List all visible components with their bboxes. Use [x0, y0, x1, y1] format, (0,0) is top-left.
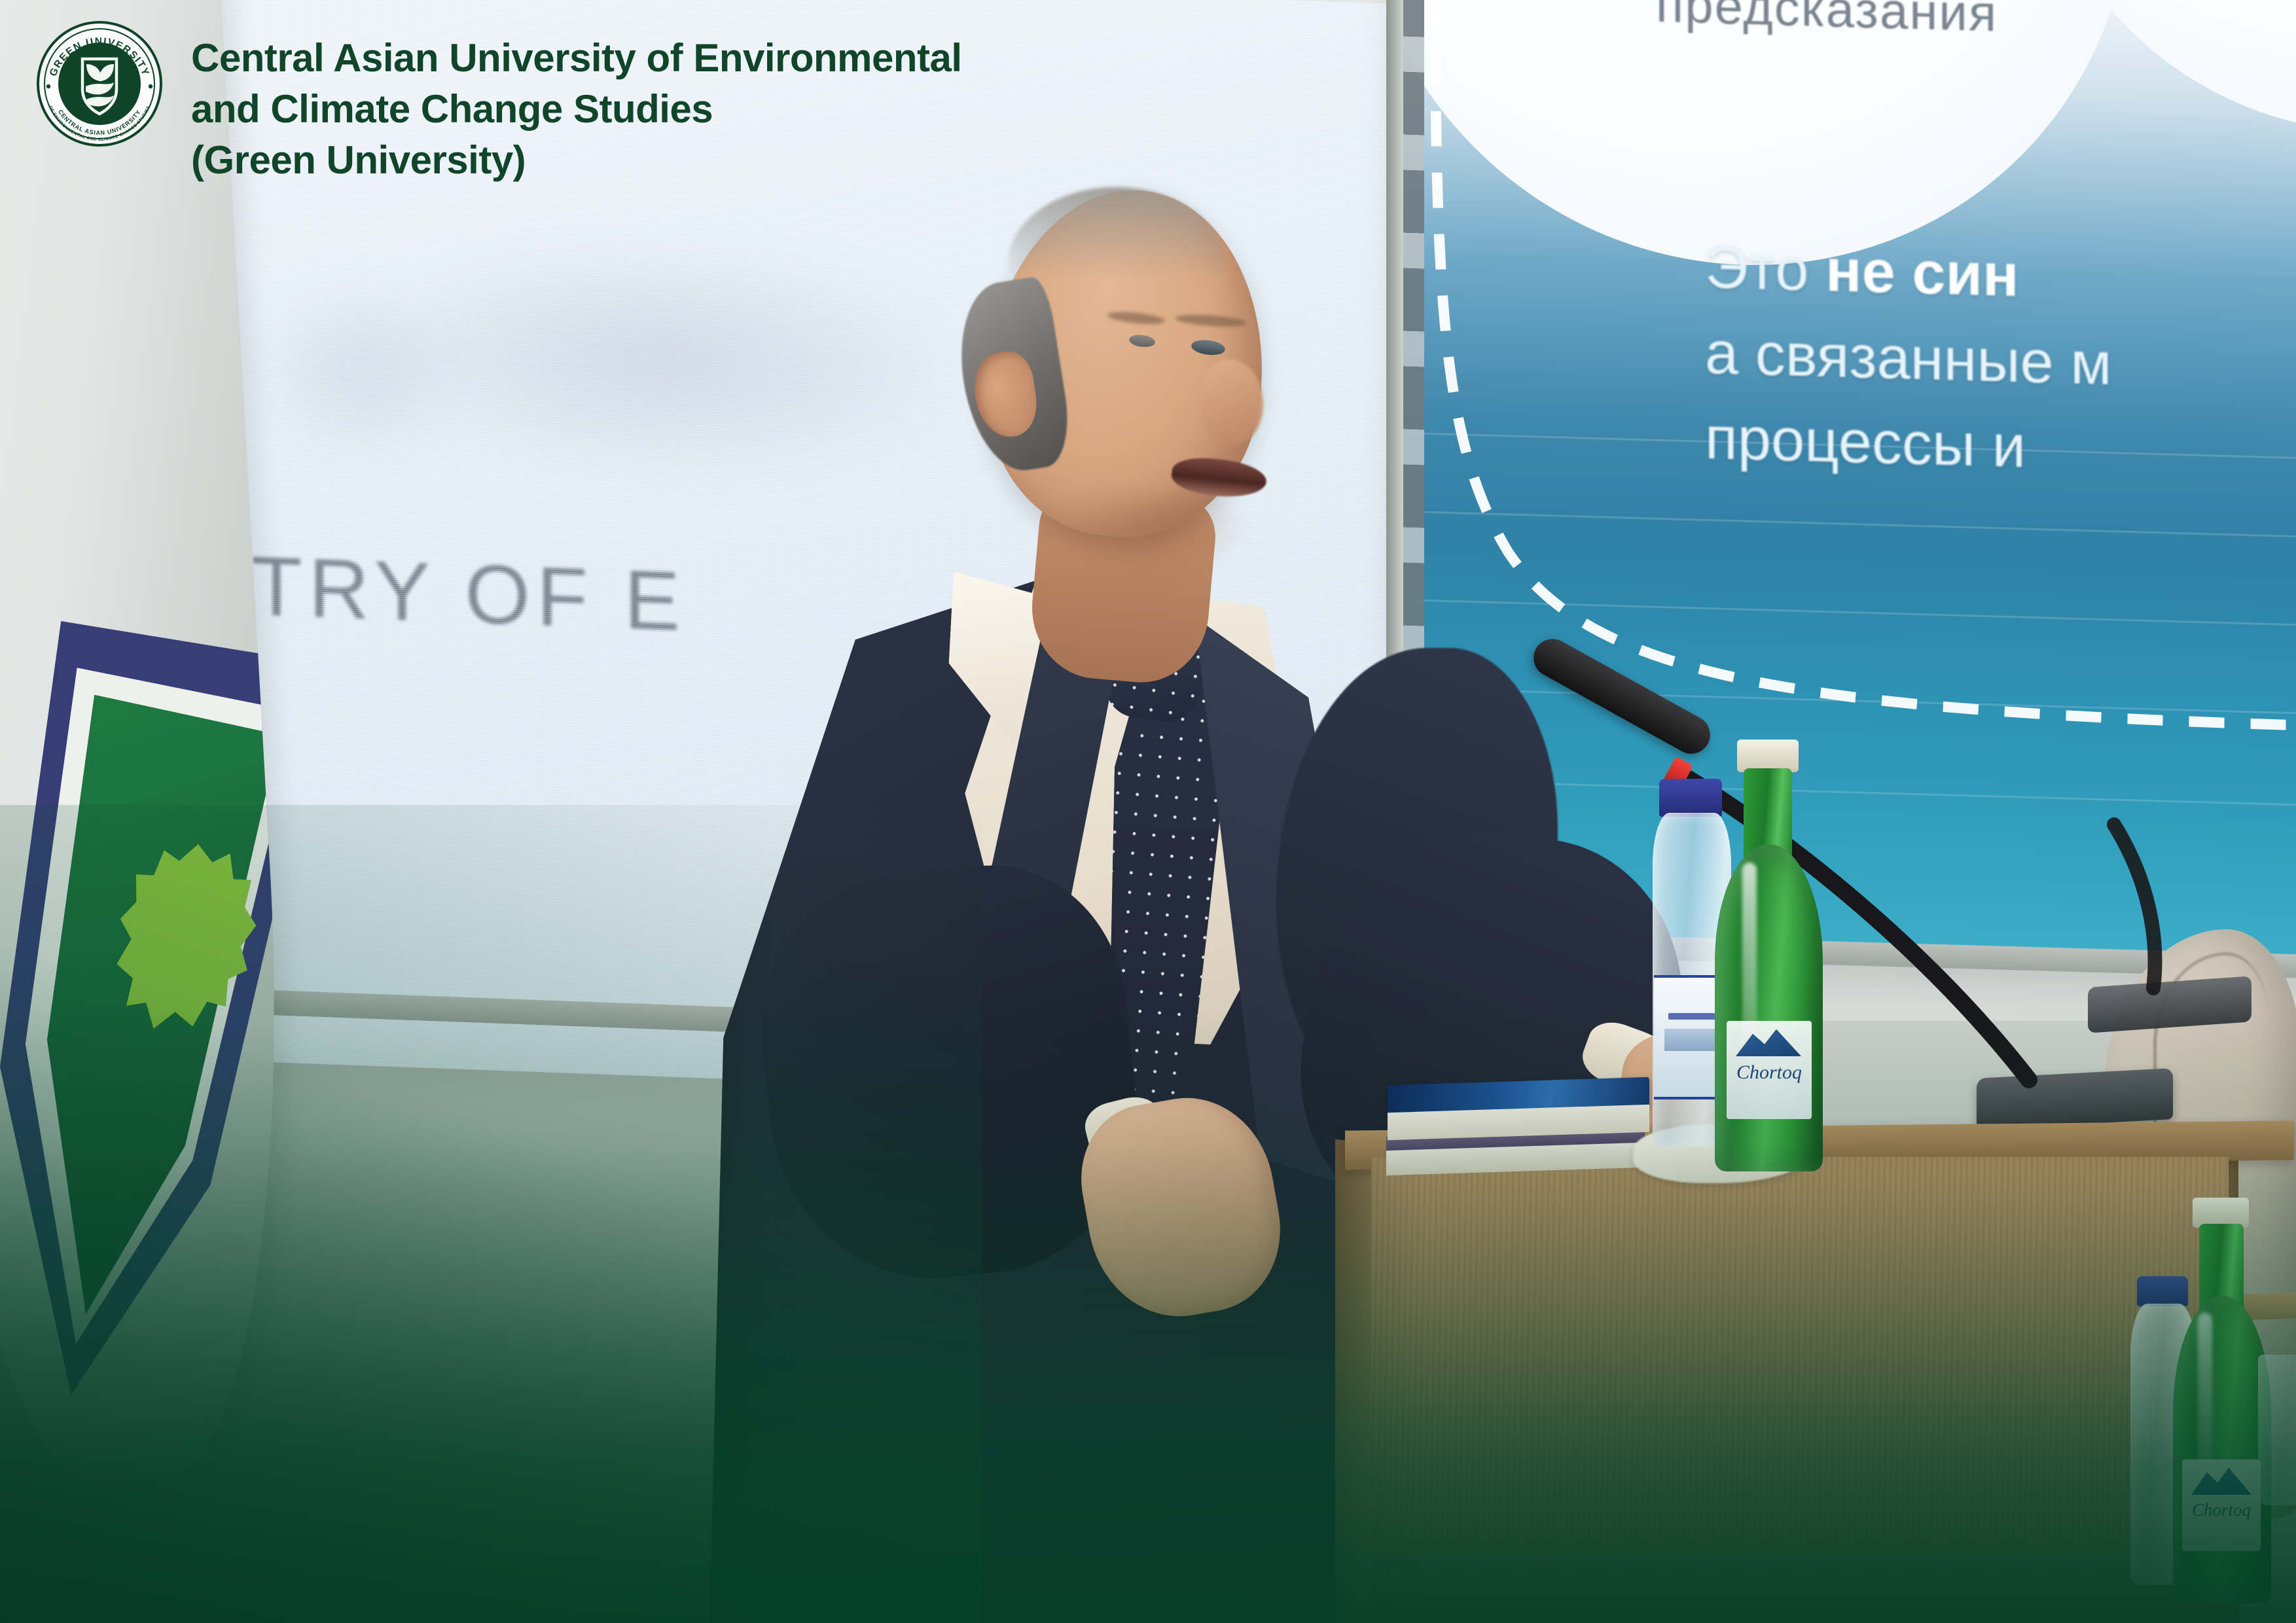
lectern-body — [1371, 1157, 2229, 1623]
label-mark — [1664, 1029, 1721, 1051]
bottle-body — [2173, 1296, 2271, 1603]
brand-title-line-3: (Green University) — [191, 135, 962, 186]
bottle-cap — [1659, 779, 1722, 817]
bottle-brand-name: Chortoq — [2189, 1500, 2254, 1520]
hair-top — [1008, 187, 1224, 279]
screenshot-stage: NISTRY OF E предсказания Это не син а св… — [0, 0, 2296, 1623]
microphone-base[interactable] — [1977, 1068, 2173, 1130]
mountain-icon — [1736, 1027, 1801, 1056]
green-glass-bottle: Chortoq — [1715, 740, 1823, 1171]
bottle-label: Chortoq — [1727, 1021, 1812, 1119]
green-glass-bottle-secondary: Chortoq — [2173, 1198, 2271, 1603]
bottle-body — [1715, 844, 1823, 1171]
bottle-brand-name: Chortoq — [1733, 1061, 1805, 1084]
green-university-seal-icon: GREEN UNIVERSITY CENTRAL ASIAN UNIVERSIT… — [34, 18, 165, 149]
label-mark — [1668, 1013, 1715, 1020]
right-screen-body-text: Это не син а связанные м процессы и — [1705, 224, 2111, 492]
chin-shadow — [1060, 491, 1250, 576]
brand-header: GREEN UNIVERSITY CENTRAL ASIAN UNIVERSIT… — [34, 18, 962, 186]
brand-title-line-2: and Climate Change Studies — [191, 84, 962, 135]
drinking-glass — [2258, 1355, 2296, 1505]
left-screen-blurred-graphic-secondary — [249, 270, 465, 474]
bottle-cap — [1737, 740, 1799, 772]
nose — [1201, 360, 1263, 445]
right-screen-line-1: Это не син — [1705, 224, 2111, 321]
right-screen-line-3: процессы и — [1705, 395, 2111, 492]
mountain-icon — [2191, 1466, 2251, 1495]
brand-title: Central Asian University of Environmenta… — [191, 18, 962, 186]
brand-title-line-1: Central Asian University of Environmenta… — [191, 33, 962, 84]
bottle-label: Chortoq — [2182, 1459, 2261, 1551]
right-screen-line-2: а связанные м — [1705, 310, 2111, 407]
